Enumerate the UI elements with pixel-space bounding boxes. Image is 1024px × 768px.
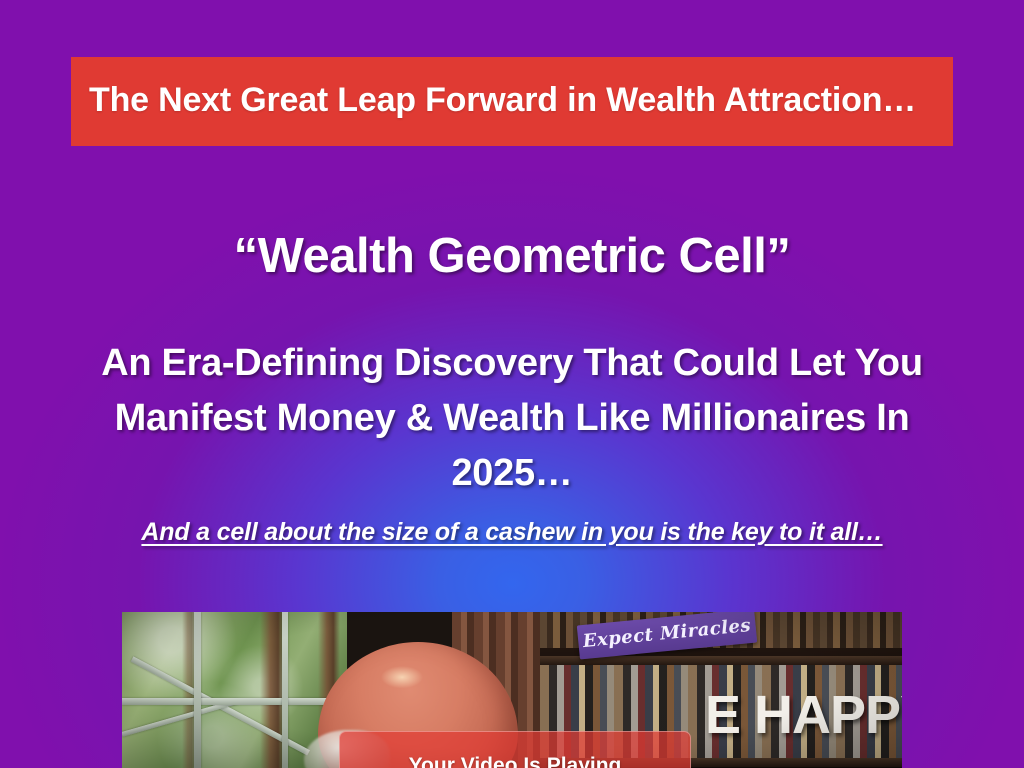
window-mullion — [122, 698, 347, 705]
scene-be-happy-letters: E HAPPY — [705, 684, 902, 746]
kicker-line: And a cell about the size of a cashew in… — [0, 518, 1024, 547]
video-player[interactable]: Expect Miracles E HAPPY Your Video Is Pl… — [122, 612, 902, 768]
window-mullion — [282, 612, 288, 768]
page-title: “Wealth Geometric Cell” — [0, 228, 1024, 284]
sub-headline: An Era-Defining Discovery That Could Let… — [62, 336, 962, 501]
kicker-text: And a cell about the size of a cashew in… — [141, 518, 882, 547]
window-mullion — [194, 612, 201, 768]
headline-banner: The Next Great Leap Forward in Wealth At… — [71, 57, 953, 146]
headline-text: The Next Great Leap Forward in Wealth At… — [89, 79, 935, 122]
video-playing-banner[interactable]: Your Video Is Playing — [339, 731, 691, 768]
video-playing-label: Your Video Is Playing — [340, 732, 690, 768]
